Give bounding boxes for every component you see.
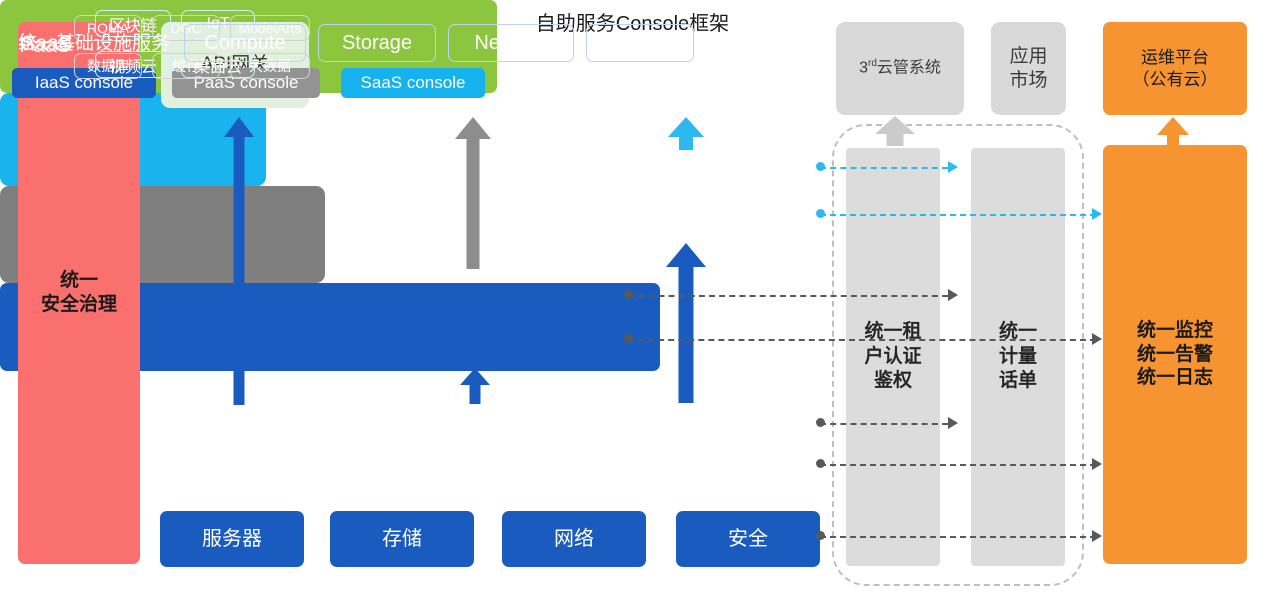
auth-line3: 鉴权 — [864, 369, 921, 394]
connector-infra-to-auth — [820, 423, 948, 425]
infra-service-cce-label: CCE — [619, 32, 661, 55]
app-market-line1: 应用 — [1009, 45, 1047, 69]
third-party-prefix: 3 — [859, 60, 868, 77]
connector-arrowhead-infra-ops — [1092, 458, 1102, 470]
arrow-shared-to-ops-platform — [1157, 117, 1189, 147]
connector-paas-to-auth — [628, 295, 948, 297]
connector-saas-to-ops — [820, 214, 1096, 216]
infra-service-compute[interactable]: Compute — [184, 24, 306, 62]
ops-main-line1: 统一监控 — [1137, 319, 1213, 343]
hardware-security-box[interactable]: 安全 — [676, 511, 820, 567]
infra-service-network-label: Network — [474, 32, 547, 55]
hardware-storage-box[interactable]: 存储 — [330, 511, 474, 567]
connector-hardware-to-ops — [820, 536, 1096, 538]
app-market-box: 应用 市场 — [991, 22, 1066, 115]
hardware-storage-label: 存储 — [382, 527, 422, 552]
hardware-security-label: 安全 — [728, 527, 768, 552]
connector-arrowhead-infra-auth — [948, 417, 958, 429]
third-party-cloud-mgmt-box: 3rd云管系统 — [836, 22, 964, 115]
connector-arrowhead-hardware-ops — [1092, 530, 1102, 542]
unified-metering-billing-column: 统一 计量 话单 — [971, 148, 1065, 566]
saas-console-chip[interactable]: SaaS console — [341, 68, 485, 98]
arrow-infra-to-paas — [460, 368, 490, 404]
arrow-saas-to-saas-console — [668, 117, 704, 149]
governance-line2: 安全治理 — [41, 293, 117, 317]
connector-arrowhead-paas-auth — [948, 289, 958, 301]
hardware-network-box[interactable]: 网络 — [502, 511, 646, 567]
arrow-paas-to-console — [455, 117, 491, 269]
auth-line2: 户认证 — [864, 345, 921, 370]
paas-service-database[interactable]: 数据库 — [74, 53, 142, 79]
connector-arrowhead-paas-ops — [1092, 333, 1102, 345]
third-party-label: 3rd云管系统 — [859, 58, 941, 78]
infra-service-network[interactable]: Network — [448, 24, 574, 62]
ops-platform-main-panel: 统一监控 统一告警 统一日志 — [1103, 145, 1247, 564]
connector-saas-to-auth — [820, 167, 948, 169]
governance-line1: 统一 — [41, 269, 117, 293]
ops-platform-line1: 运维平台 — [1133, 47, 1218, 68]
architecture-diagram: 统一 安全治理 API网关 自助服务Console框架 IaaS console… — [0, 0, 1265, 605]
app-market-line2: 市场 — [1009, 69, 1047, 93]
infra-service-storage[interactable]: Storage — [318, 24, 436, 62]
infra-service-compute-label: Compute — [204, 32, 285, 55]
arrow-infra-to-api-gateway — [224, 117, 254, 405]
infra-service-storage-label: Storage — [342, 32, 412, 55]
saas-console-label: SaaS console — [361, 73, 466, 93]
ops-platform-line2: （公有云） — [1133, 69, 1218, 90]
ops-main-line2: 统一告警 — [1137, 343, 1213, 367]
connector-infra-to-ops — [820, 464, 1096, 466]
third-party-suffix: 云管系统 — [877, 60, 941, 77]
ops-platform-header-box: 运维平台 （公有云） — [1103, 22, 1247, 115]
arrow-shared-to-third-party — [875, 116, 915, 146]
hardware-server-box[interactable]: 服务器 — [160, 511, 304, 567]
unified-security-governance-panel: 统一 安全治理 — [18, 22, 140, 564]
infra-service-cce[interactable]: CCE — [586, 24, 694, 62]
meter-line2: 计量 — [999, 345, 1037, 370]
unified-tenant-auth-column: 统一租 户认证 鉴权 — [846, 148, 940, 566]
connector-paas-to-ops — [628, 339, 1096, 341]
unified-infrastructure-label: 统一基础设施服务 — [14, 28, 174, 55]
connector-arrowhead-saas-auth — [948, 161, 958, 173]
third-party-superscript: rd — [868, 58, 877, 69]
paas-service-database-label: 数据库 — [87, 56, 129, 76]
arrow-infra-to-saas — [666, 243, 706, 403]
hardware-network-label: 网络 — [554, 527, 594, 552]
hardware-server-label: 服务器 — [202, 527, 262, 552]
connector-arrowhead-saas-ops — [1092, 208, 1102, 220]
ops-main-line3: 统一日志 — [1137, 366, 1213, 390]
meter-line3: 话单 — [999, 369, 1037, 394]
